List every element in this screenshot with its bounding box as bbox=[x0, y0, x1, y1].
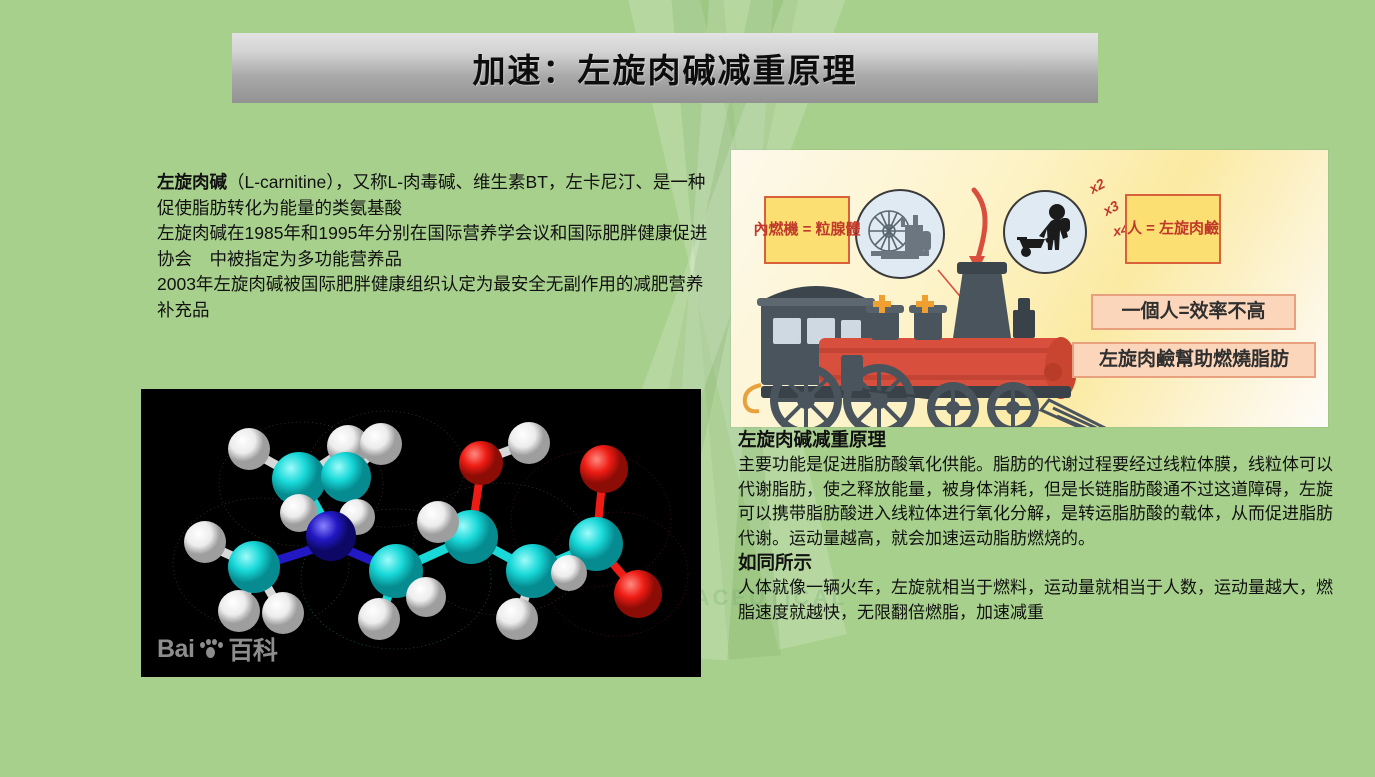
baidu-watermark-text-2: 百科 bbox=[228, 631, 277, 667]
paw-print-icon bbox=[197, 637, 225, 661]
baidu-baike-watermark: Bai 百科 bbox=[157, 631, 277, 667]
right-description-text: 左旋肉碱减重原理 主要功能是促进脂肪酸氧化供能。脂肪的代谢过程要经过线粒体膜，线… bbox=[738, 428, 1338, 625]
right-heading-2: 如同所示 bbox=[738, 552, 812, 573]
worker-wheelbarrow-circle-icon bbox=[1003, 190, 1087, 274]
left-body-text: （L-carnitine），又称L-肉毒碱、维生素BT，左卡尼汀、是一种促使脂肪… bbox=[157, 172, 707, 320]
molecule-image: Bai 百科 bbox=[141, 389, 701, 677]
steam-engine-circle-icon bbox=[855, 189, 945, 279]
slide-canvas: 美 PHARMACEUTICAL 加速：左旋肉碱减重原理 左旋肉碱（L-carn… bbox=[0, 0, 1375, 777]
right-heading-1: 左旋肉碱减重原理 bbox=[738, 429, 886, 450]
locomotive-illustration: x2 x3 x4 內燃機 = 粒腺體 人 = 左旋肉鹼 一個人=效率不高 左旋肉… bbox=[731, 150, 1328, 427]
title-banner: 加速：左旋肉碱减重原理 bbox=[232, 33, 1098, 103]
carnitine-burns-fat-box: 左旋肉鹼幫助燃燒脂肪 bbox=[1072, 342, 1316, 378]
engine-equals-mitochondria-box: 內燃機 = 粒腺體 bbox=[764, 196, 850, 264]
person-equals-carnitine-box: 人 = 左旋肉鹼 bbox=[1125, 194, 1221, 264]
right-paragraph-1: 主要功能是促进脂肪酸氧化供能。脂肪的代谢过程要经过线粒体膜，线粒体可以代谢脂肪，… bbox=[738, 455, 1333, 547]
left-lead-term: 左旋肉碱 bbox=[157, 172, 227, 192]
left-description-text: 左旋肉碱（L-carnitine），又称L-肉毒碱、维生素BT，左卡尼汀、是一种… bbox=[157, 170, 717, 323]
one-person-low-efficiency-box: 一個人=效率不高 bbox=[1091, 294, 1296, 330]
right-paragraph-2: 人体就像一辆火车，左旋就相当于燃料，运动量就相当于人数，运动量越大，燃脂速度就越… bbox=[738, 578, 1333, 621]
baidu-watermark-text-1: Bai bbox=[157, 635, 194, 664]
page-title: 加速：左旋肉碱减重原理 bbox=[473, 44, 858, 92]
locomotive-svg bbox=[731, 150, 1328, 427]
